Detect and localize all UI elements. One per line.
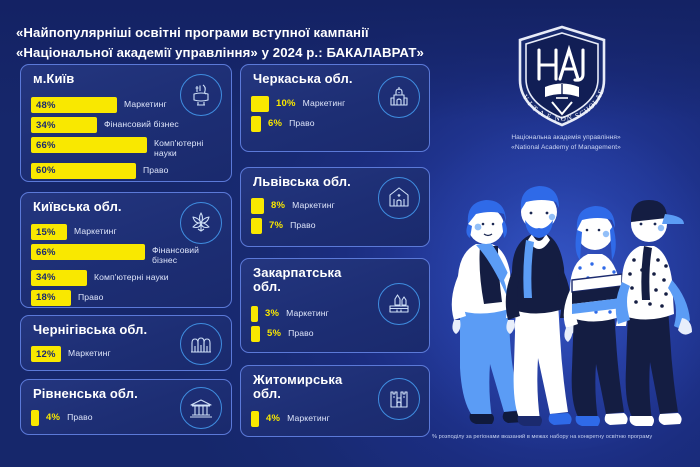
bar-label: Маркетинг — [303, 96, 346, 109]
bar-row: 12% Маркетинг — [31, 346, 111, 362]
bar-label: Маркетинг — [292, 198, 335, 211]
bar-label: Право — [78, 290, 103, 303]
region-card-zakarpatska[interactable]: Закарпатська обл. 3% Маркетинг 5% Право — [240, 258, 430, 353]
region-title-text: Житомирська обл. — [253, 372, 342, 401]
bar — [251, 116, 261, 132]
academy-logo: V I T A E NON SCHOLAE DISCIMUS — [512, 24, 612, 128]
bar-row: 48% Маркетинг — [31, 97, 214, 113]
bar: 48% — [31, 97, 117, 113]
bar-row: 4% Маркетинг — [251, 411, 330, 427]
bar — [251, 411, 259, 427]
bar-label: Маркетинг — [68, 346, 111, 359]
region-title: м.Київ — [33, 72, 74, 87]
bar-row: 60% Право — [31, 163, 214, 179]
region-card-lvivska[interactable]: Львівська обл. 8% Маркетинг 7% Право — [240, 167, 430, 247]
bar — [251, 306, 258, 322]
bar-row: 7% Право — [251, 218, 335, 234]
region-title: Черкаська обл. — [253, 72, 353, 87]
bar: 18% — [31, 290, 71, 306]
bar: 12% — [31, 346, 61, 362]
ancient-walls-icon — [180, 323, 222, 365]
bar — [251, 326, 260, 342]
bar-row: 15% Маркетинг — [31, 224, 208, 240]
bar-label: Маркетинг — [287, 411, 330, 424]
page-title-line-2: «Національної академії управління» у 202… — [16, 43, 486, 63]
region-title: Житомирська обл. — [253, 373, 363, 402]
region-title-text: Закарпатська обл. — [253, 265, 342, 294]
bar-group: 15% Маркетинг 66% Фінансовий бізнес 34% … — [31, 224, 208, 306]
classical-building-icon — [180, 387, 222, 429]
bar-label: Маркетинг — [286, 306, 329, 319]
bar-value: 18% — [31, 292, 56, 303]
bar-value: 4% — [266, 411, 280, 427]
bar: 66% — [31, 244, 145, 260]
bar — [251, 198, 264, 214]
church-icon — [378, 177, 420, 219]
bar-value: 66% — [31, 140, 56, 151]
footnote: % розподілу за регіонами вказаний в межа… — [432, 434, 694, 441]
bar: 60% — [31, 163, 136, 179]
region-card-kyiv-city[interactable]: м.Київ 48% Маркетинг 34% Фінансовий бізн… — [20, 64, 232, 182]
bar-label: Право — [67, 410, 92, 423]
bar-value: 10% — [276, 96, 296, 112]
bar-value: 7% — [269, 218, 283, 234]
bar-label: Право — [289, 116, 314, 129]
bar-value: 34% — [31, 120, 56, 131]
bar-row: 66% Фінансовий бізнес — [31, 244, 208, 266]
bar-row: 8% Маркетинг — [251, 198, 335, 214]
bar-group: 10% Маркетинг 6% Право — [251, 96, 345, 132]
bar-label: Фінансовий бізнес — [152, 244, 208, 266]
bar-label: Право — [290, 218, 315, 231]
region-title: Київська обл. — [33, 200, 122, 215]
bar-label: Маркетинг — [74, 224, 117, 237]
bar — [251, 96, 269, 112]
castle-towers-icon — [378, 283, 420, 325]
bar-row: 3% Маркетинг — [251, 306, 329, 322]
bar: 34% — [31, 117, 97, 133]
bar-label: Комп'ютерні науки — [94, 270, 169, 283]
bar-value: 12% — [31, 349, 56, 360]
bar-value: 3% — [265, 306, 279, 322]
bar-label: Маркетинг — [124, 97, 167, 110]
bar-row: 34% Фінансовий бізнес — [31, 117, 214, 133]
bar-group: 3% Маркетинг 5% Право — [251, 306, 329, 342]
region-card-rivnenska[interactable]: Рівненська обл. 4% Право — [20, 379, 232, 435]
bar: 34% — [31, 270, 87, 286]
bar-row: 10% Маркетинг — [251, 96, 345, 112]
bar-group: 48% Маркетинг 34% Фінансовий бізнес 66% … — [31, 97, 214, 179]
bar-value: 60% — [31, 165, 56, 176]
region-card-cherkaska[interactable]: Черкаська обл. 10% Маркетинг 6% Право — [240, 64, 430, 152]
page-title-line-1: «Найпопулярніші освітні програми вступно… — [16, 25, 369, 40]
bar-group: 4% Маркетинг — [251, 411, 330, 427]
logo-caption-en: «National Academy of Management» — [496, 143, 636, 153]
bar: 15% — [31, 224, 67, 240]
region-card-kyivska[interactable]: Київська обл. 15% Маркетинг 66% — [20, 192, 232, 308]
bar-label: Комп'ютерні науки — [154, 137, 214, 159]
bar-group: 4% Право — [31, 410, 93, 426]
bar-row: 34% Комп'ютерні науки — [31, 270, 208, 286]
castle-wall-icon — [378, 378, 420, 420]
bar-label: Фінансовий бізнес — [104, 117, 179, 130]
region-title: Львівська обл. — [253, 175, 351, 190]
infographic-canvas: «Найпопулярніші освітні програми вступно… — [0, 0, 700, 467]
region-title: Закарпатська обл. — [253, 266, 363, 295]
bar-value: 8% — [271, 198, 285, 214]
bar-row: 66% Комп'ютерні науки — [31, 137, 214, 159]
region-title: Рівненська обл. — [33, 387, 138, 402]
students-illustration — [446, 168, 700, 430]
bar-row: 6% Право — [251, 116, 345, 132]
bar: 66% — [31, 137, 147, 153]
bar-group: 8% Маркетинг 7% Право — [251, 198, 335, 234]
bar-value: 34% — [31, 272, 56, 283]
bar-row: 4% Право — [31, 410, 93, 426]
bar — [31, 410, 39, 426]
region-card-zhytomyrska[interactable]: Житомирська обл. 4% Маркетинг — [240, 365, 430, 437]
bar-label: Право — [143, 163, 168, 176]
bar-value: 5% — [267, 326, 281, 342]
bar-row: 5% Право — [251, 326, 329, 342]
bar — [251, 218, 262, 234]
bar-value: 15% — [31, 227, 56, 238]
region-card-chernihivska[interactable]: Чернігівська обл. 12% Маркетинг — [20, 315, 232, 371]
page-title: «Найпопулярніші освітні програми вступно… — [16, 23, 486, 63]
bar-value: 48% — [31, 100, 56, 111]
fortress-tower-icon — [378, 76, 420, 118]
bar-label: Право — [288, 326, 313, 339]
bar-value: 4% — [46, 410, 60, 426]
logo-caption-uk: Національна академія управління» — [496, 133, 636, 143]
region-title: Чернігівська обл. — [33, 323, 147, 338]
bar-value: 66% — [31, 247, 56, 258]
bar-row: 18% Право — [31, 290, 208, 306]
bar-value: 6% — [268, 116, 282, 132]
logo-caption: Національна академія управління» «Nation… — [496, 133, 636, 152]
bar-group: 12% Маркетинг — [31, 346, 111, 362]
